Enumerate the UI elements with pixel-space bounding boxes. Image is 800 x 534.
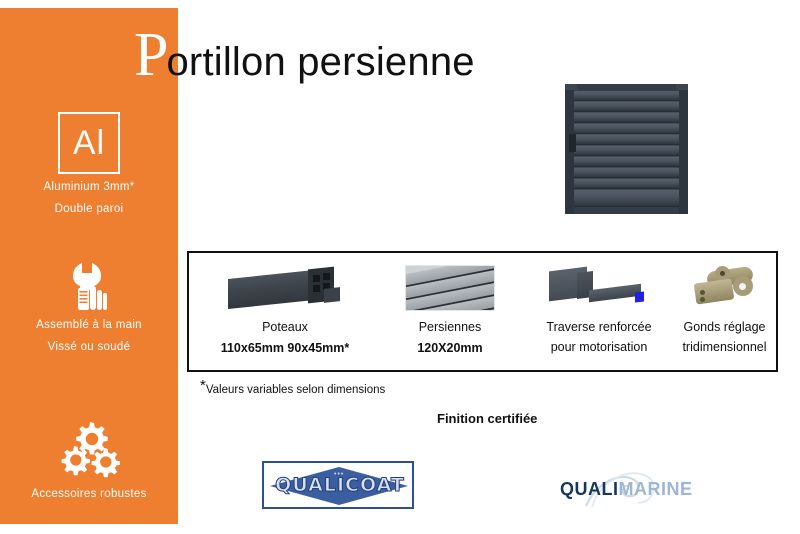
component-traverse-name-line2: pour motorisation — [525, 339, 673, 355]
components-box: Poteaux 110x65mm 90x45mm* Persiennes 120… — [187, 251, 778, 372]
certification-heading: Finition certifiée — [437, 411, 537, 426]
component-persiennes-name: Persiennes — [375, 319, 525, 335]
qualicoat-logo-text: QUALICOAT — [264, 474, 414, 496]
component-traverse-name: Traverse renforcée — [525, 319, 673, 335]
page-title-rest: ortillon persienne — [166, 40, 474, 84]
component-traverse: Traverse renforcée pour motorisation — [525, 253, 673, 355]
qualimarine-logo-text: QUALIMARINE — [560, 479, 710, 500]
traverse-renforcee-icon — [525, 257, 673, 319]
component-gonds-name: Gonds réglage — [673, 319, 776, 335]
qualicoat-logo: ••• QUALICOAT — [262, 461, 414, 509]
feature-assembly: Assemblé à la main Vissé ou soudé — [0, 256, 178, 355]
poteau-post-profile-icon — [195, 257, 375, 319]
component-persiennes-dimensions: 120X20mm — [375, 340, 525, 356]
feature-assembly-label-2: Vissé ou soudé — [0, 340, 178, 355]
hand-wrench-icon — [0, 256, 178, 318]
feature-aluminium-label-2: Double paroi — [0, 202, 178, 217]
component-poteaux: Poteaux 110x65mm 90x45mm* — [195, 253, 375, 356]
page-title-capital: P — [134, 21, 168, 89]
portillon-persienne-gate-photo — [565, 84, 688, 214]
page-title: Portillon persienne — [134, 24, 475, 86]
component-poteaux-dimensions: 110x65mm 90x45mm* — [195, 340, 375, 356]
aluminium-al-square-icon: Al — [0, 106, 178, 180]
component-gonds-name-line2: tridimensionnel — [673, 339, 776, 355]
feature-accessories-label-1: Accessoires robustes — [0, 487, 178, 502]
gears-icon — [0, 413, 178, 487]
footnote: *Valeurs variables selon dimensions — [200, 380, 385, 398]
persienne-louver-sample-icon — [375, 257, 525, 319]
gond-hinge-icon — [673, 257, 776, 319]
component-persiennes: Persiennes 120X20mm — [375, 253, 525, 356]
feature-accessories: Accessoires robustes — [0, 413, 178, 502]
al-symbol-text: Al — [73, 126, 105, 160]
component-poteaux-name: Poteaux — [195, 319, 375, 335]
qualimarine-text-part1: QUALI — [560, 479, 619, 499]
component-gonds: Gonds réglage tridimensionnel — [673, 253, 776, 355]
qualimarine-logo: QUALIMARINE — [560, 468, 710, 508]
footnote-text: Valeurs variables selon dimensions — [206, 384, 385, 396]
gate-handle-icon — [569, 134, 576, 152]
product-datasheet-page: Al Aluminium 3mm* Double paroi — [0, 0, 800, 534]
qualimarine-text-part2: MARINE — [619, 479, 693, 499]
feature-aluminium-label-1: Aluminium 3mm* — [0, 180, 178, 195]
feature-assembly-label-1: Assemblé à la main — [0, 318, 178, 333]
feature-aluminium: Al Aluminium 3mm* Double paroi — [0, 106, 178, 217]
